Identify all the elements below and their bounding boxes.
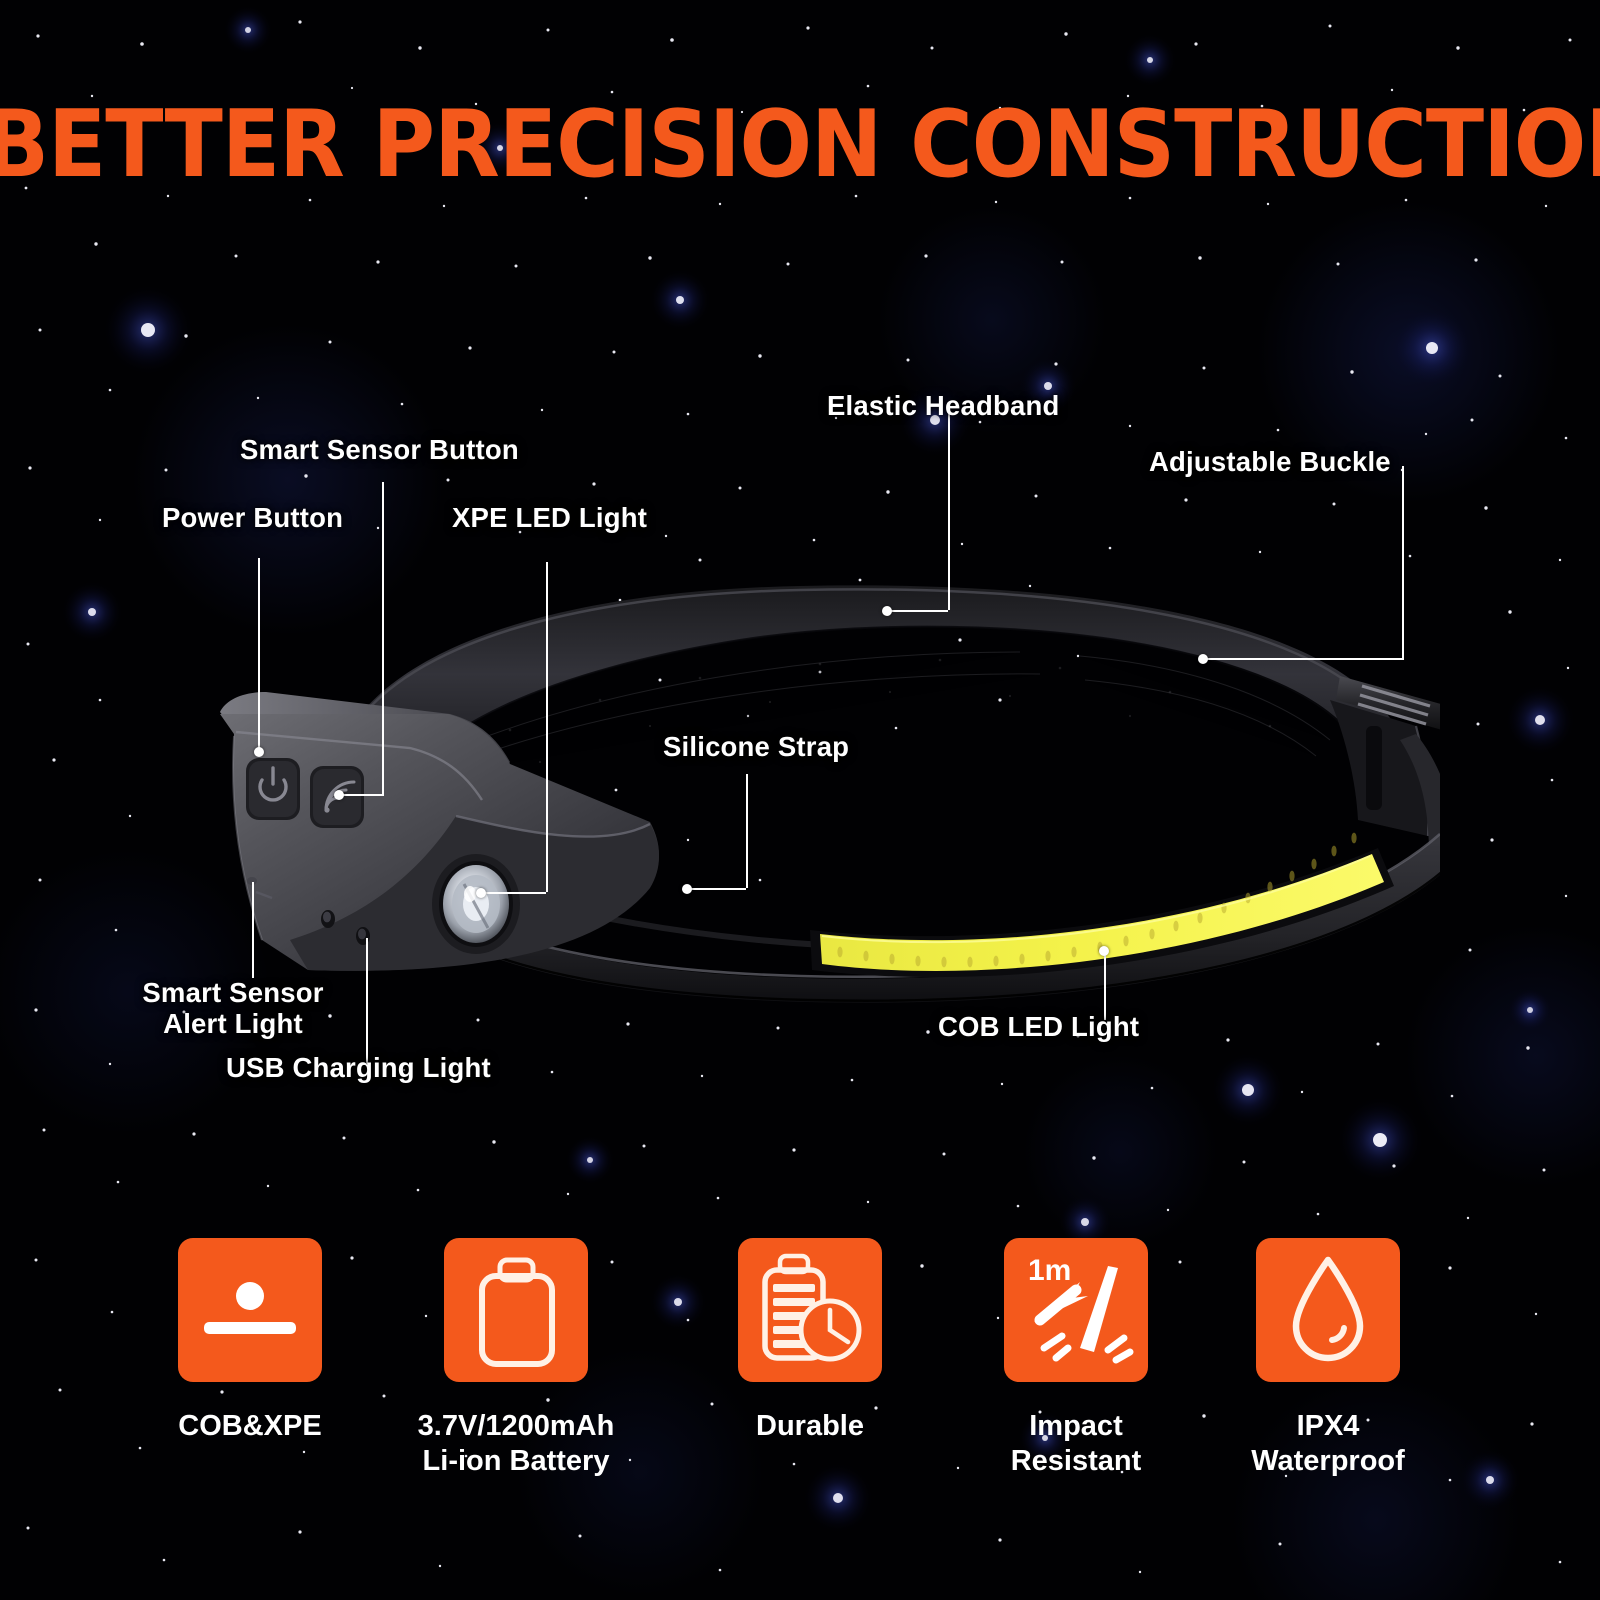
- leader-dot-power-button: [254, 747, 264, 757]
- led-dot-and-bar-icon: [178, 1238, 322, 1382]
- leader-dot-xpe-led: [476, 888, 486, 898]
- leader-line-xpe-led-h: [482, 892, 546, 894]
- leader-line-cob-led: [1104, 952, 1106, 1020]
- leader-line-silicone-strap-h: [688, 888, 746, 890]
- leader-line-elastic-headband: [948, 404, 950, 610]
- feature-tile-impact-resistant: 1m: [1004, 1238, 1148, 1382]
- leader-line-usb-light: [366, 938, 368, 1064]
- label-usb-charging-light: USB Charging Light: [226, 1053, 491, 1084]
- label-adjustable-buckle: Adjustable Buckle: [1149, 447, 1391, 478]
- xpe-led-light: [432, 854, 520, 954]
- feature-battery: 3.7V/1200mAh Li-ion Battery: [416, 1238, 616, 1480]
- feature-tile-durable: [738, 1238, 882, 1382]
- leader-line-xpe-led: [546, 562, 548, 892]
- feature-label-impact-line1: Impact: [1029, 1410, 1122, 1442]
- leader-dot-silicone-strap: [682, 884, 692, 894]
- feature-label-waterproof: IPX4 Waterproof: [1228, 1409, 1428, 1480]
- page-title: BETTER PRECISION CONSTRUCTION: [0, 96, 1600, 194]
- impact-badge-1m: 1m: [1028, 1254, 1071, 1287]
- leader-line-buckle-h: [1204, 658, 1404, 660]
- leader-dot-elastic-headband: [882, 606, 892, 616]
- impact-resistant-icon: 1m: [1004, 1238, 1148, 1382]
- label-smart-sensor-button: Smart Sensor Button: [240, 435, 519, 466]
- feature-label-battery-line1: 3.7V/1200mAh: [418, 1410, 615, 1442]
- feature-label-waterproof-line2: Waterproof: [1251, 1445, 1405, 1477]
- leader-dot-smart-sensor-button: [334, 790, 344, 800]
- leader-line-buckle: [1402, 466, 1404, 658]
- feature-row: COB&XPE 3.7V/1200mAh Li-ion Battery: [0, 1238, 1600, 1538]
- label-sensor-alert-line2: Alert Light: [163, 1008, 303, 1039]
- leader-line-elastic-headband-h: [888, 610, 948, 612]
- label-sensor-alert-line1: Smart Sensor: [142, 977, 323, 1008]
- battery-icon: [444, 1238, 588, 1382]
- water-drop-icon: [1256, 1238, 1400, 1382]
- feature-tile-battery: [444, 1238, 588, 1382]
- feature-waterproof: IPX4 Waterproof: [1228, 1238, 1428, 1480]
- feature-tile-cob-xpe: [178, 1238, 322, 1382]
- feature-label-battery-line2: Li-ion Battery: [423, 1445, 610, 1477]
- feature-impact-resistant: 1m Impact Resistant: [976, 1238, 1176, 1480]
- feature-tile-waterproof: [1256, 1238, 1400, 1382]
- leader-line-smart-sensor-button: [382, 482, 384, 794]
- feature-label-durable: Durable: [710, 1409, 910, 1444]
- leader-line-power-button: [258, 558, 260, 752]
- label-power-button: Power Button: [162, 503, 343, 534]
- label-xpe-led-light: XPE LED Light: [452, 503, 647, 534]
- feature-label-impact-resistant: Impact Resistant: [976, 1409, 1176, 1480]
- feature-label-cob-xpe: COB&XPE: [150, 1409, 350, 1444]
- leader-line-smart-sensor-button-h: [340, 794, 384, 796]
- label-cob-led-light: COB LED Light: [938, 1012, 1139, 1043]
- label-elastic-headband: Elastic Headband: [827, 391, 1059, 422]
- leader-dot-cob-led: [1099, 946, 1109, 956]
- feature-label-waterproof-line1: IPX4: [1297, 1410, 1360, 1442]
- label-smart-sensor-alert-light: Smart Sensor Alert Light: [142, 978, 324, 1040]
- feature-cob-xpe: COB&XPE: [150, 1238, 350, 1444]
- power-button[interactable]: [246, 758, 300, 820]
- leader-dot-buckle: [1198, 654, 1208, 664]
- leader-line-sensor-alert: [252, 882, 254, 978]
- leader-line-silicone-strap: [746, 774, 748, 888]
- feature-label-impact-line2: Resistant: [1011, 1445, 1142, 1477]
- feature-durable: Durable: [710, 1238, 910, 1444]
- battery-clock-icon: [738, 1238, 882, 1382]
- label-silicone-strap: Silicone Strap: [663, 732, 849, 763]
- feature-label-battery: 3.7V/1200mAh Li-ion Battery: [416, 1409, 616, 1480]
